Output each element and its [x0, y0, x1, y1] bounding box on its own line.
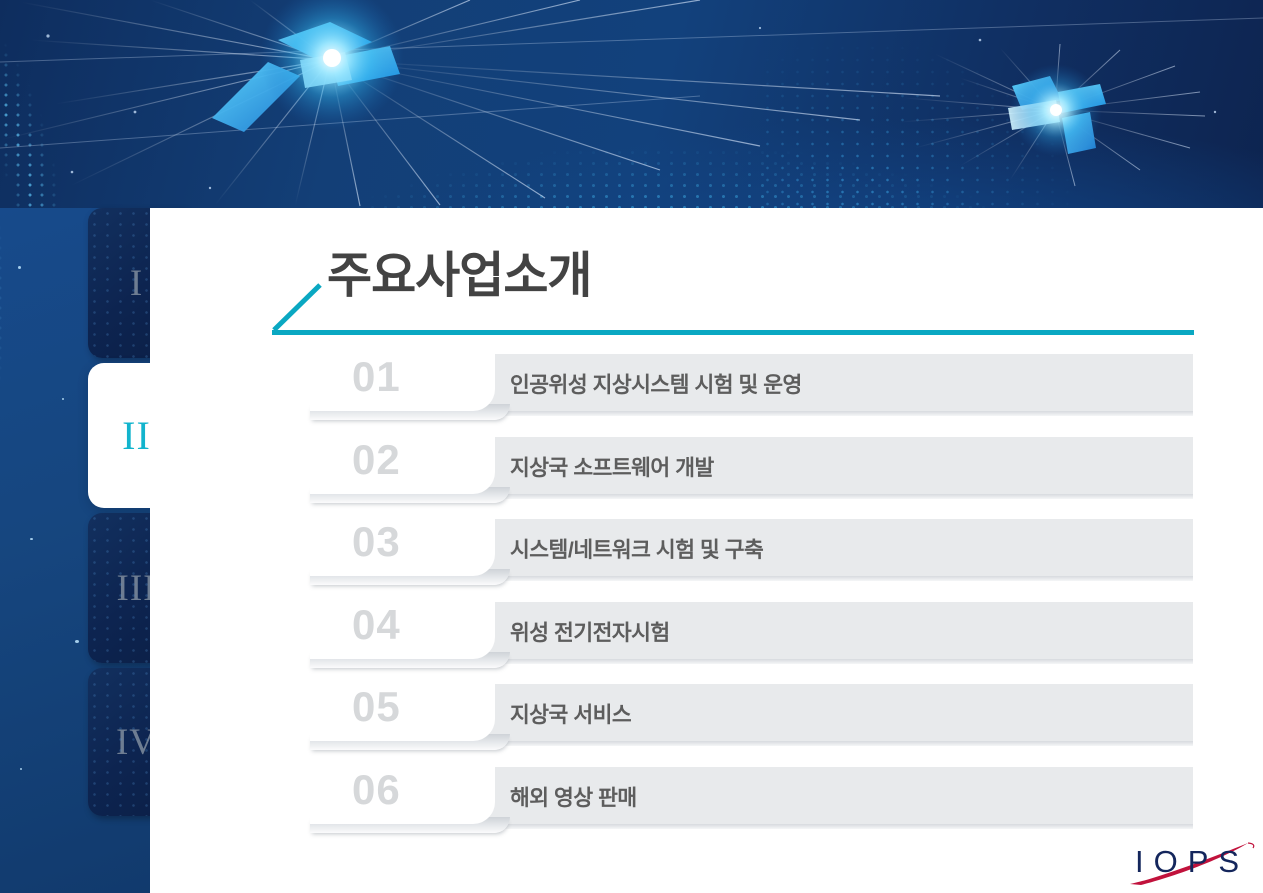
list-item-number-tab: 05 [310, 678, 495, 741]
list-item-label: 지상국 소프트웨어 개발 [510, 451, 714, 482]
main-content: 주요사업소개 01 인공위성 지상시스템 시험 및 운영 02 지상국 소프트웨… [150, 208, 1263, 893]
list-item[interactable]: 01 인공위성 지상시스템 시험 및 운영 [310, 354, 1195, 437]
list-item-number-tab: 06 [310, 761, 495, 824]
list-item-number-tab: 02 [310, 431, 495, 494]
business-list: 01 인공위성 지상시스템 시험 및 운영 02 지상국 소프트웨어 개발 03… [310, 354, 1195, 850]
slide: I II III IV 주요사업소개 01 [0, 0, 1263, 893]
list-item-bar [378, 519, 1193, 576]
header-banner [0, 0, 1263, 208]
list-item-number-tab: 03 [310, 513, 495, 576]
list-item-label: 해외 영상 판매 [510, 781, 637, 812]
logo-text: IOPS [1135, 844, 1249, 880]
list-item[interactable]: 02 지상국 소프트웨어 개발 [310, 437, 1195, 520]
list-item-bar [378, 684, 1193, 741]
list-item[interactable]: 04 위성 전기전자시험 [310, 602, 1195, 685]
list-item-label: 위성 전기전자시험 [510, 616, 670, 647]
list-item-bar [378, 437, 1193, 494]
list-item-label: 지상국 서비스 [510, 698, 631, 729]
list-item-label: 시스템/네트워크 시험 및 구축 [510, 533, 763, 564]
list-item-number: 02 [352, 434, 401, 486]
list-item[interactable]: 03 시스템/네트워크 시험 및 구축 [310, 519, 1195, 602]
list-item-number-tab: 04 [310, 596, 495, 659]
list-item[interactable]: 06 해외 영상 판매 [310, 767, 1195, 850]
list-item-number: 04 [352, 599, 401, 651]
list-item[interactable]: 05 지상국 서비스 [310, 684, 1195, 767]
page-title: 주요사업소개 [327, 236, 591, 307]
list-item-number: 05 [352, 681, 401, 733]
list-item-number: 01 [352, 351, 401, 403]
list-item-number: 03 [352, 516, 401, 568]
satellite-illustration [0, 0, 1263, 208]
iops-logo: IOPS [1129, 836, 1257, 888]
list-item-bar [378, 602, 1193, 659]
title-block: 주요사업소개 [272, 230, 1202, 340]
list-item-label: 인공위성 지상시스템 시험 및 운영 [510, 368, 802, 399]
list-item-number-tab: 01 [310, 348, 495, 411]
list-item-number: 06 [352, 764, 401, 816]
sidebar-item-label: II [122, 412, 151, 459]
list-item-bar [378, 767, 1193, 824]
